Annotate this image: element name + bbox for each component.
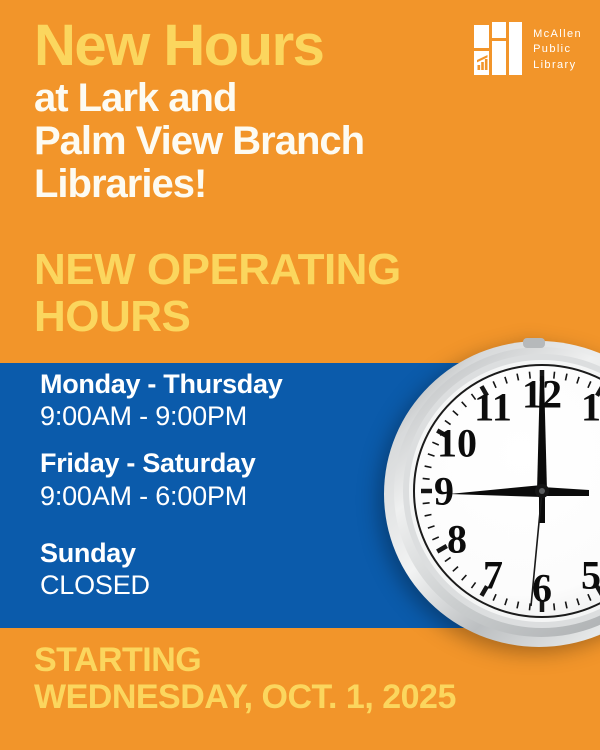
hours-row: Monday - Thursday 9:00AM - 9:00PM: [40, 368, 390, 433]
logo-block-bottom-middle: [492, 41, 506, 75]
hours-day-label: Sunday: [40, 537, 390, 569]
logo-mark-icon: [474, 22, 524, 78]
clock-center-pin: [539, 488, 545, 494]
poster-canvas: 12 1 2 3 4 5 6 7 8 9 10 11: [0, 0, 600, 750]
hours-time-value: 9:00AM - 6:00PM: [40, 480, 390, 513]
hours-day-label: Friday - Saturday: [40, 447, 390, 479]
logo-block-top-middle: [492, 22, 506, 38]
clock-numeral-11: 11: [474, 385, 512, 430]
logo-line-3: Library: [533, 58, 582, 74]
starting-date-text: Starting Wednesday, Oct. 1, 2025: [34, 642, 579, 717]
hours-row: Sunday CLOSED: [40, 537, 390, 602]
hours-time-value: 9:00AM - 9:00PM: [40, 400, 390, 433]
logo-block-top-left: [474, 25, 489, 48]
page-subtitle: at Lark and Palm View Branch Libraries!: [34, 77, 464, 207]
clock-numeral-5: 5: [581, 553, 600, 598]
wall-clock-image: 12 1 2 3 4 5 6 7 8 9 10 11: [383, 338, 600, 650]
logo-block-right: [509, 22, 522, 75]
hours-day-label: Monday - Thursday: [40, 368, 390, 400]
hours-list: Monday - Thursday 9:00AM - 9:00PM Friday…: [40, 368, 390, 602]
clock-numeral-8: 8: [447, 517, 467, 562]
page-title: New Hours: [34, 18, 464, 75]
logo-line-1: McAllen: [533, 27, 582, 43]
clock-hanger: [523, 338, 545, 348]
section-heading: New Operating Hours: [34, 247, 534, 340]
logo-wordmark: McAllen Public Library: [533, 27, 582, 74]
logo-line-2: Public: [533, 42, 582, 58]
book-shelf-icon: [474, 22, 524, 78]
clock-numeral-9: 9: [434, 469, 454, 514]
clock-numeral-7: 7: [483, 553, 503, 598]
hours-time-value: CLOSED: [40, 569, 390, 602]
clock-numeral-10: 10: [437, 421, 477, 466]
headline-group: New Hours at Lark and Palm View Branch L…: [34, 18, 464, 206]
clock-icon: 12 1 2 3 4 5 6 7 8 9 10 11: [383, 338, 600, 650]
library-logo[interactable]: McAllen Public Library: [474, 22, 582, 78]
clock-numeral-1: 1: [581, 385, 600, 430]
hours-row: Friday - Saturday 9:00AM - 6:00PM: [40, 447, 390, 512]
